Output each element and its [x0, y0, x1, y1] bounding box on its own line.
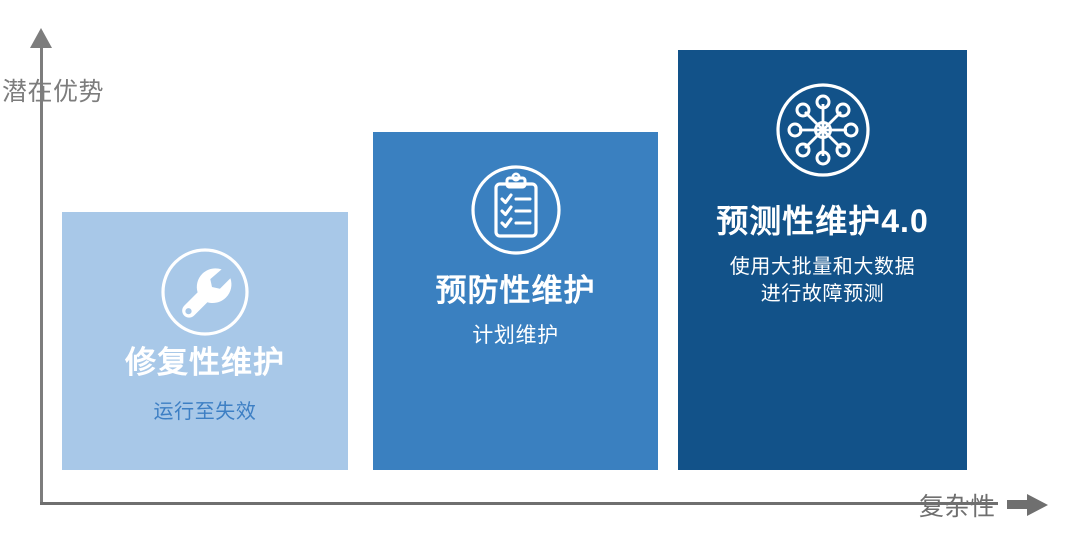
bar-corrective-maintenance: 修复性维护 运行至失效 [62, 212, 348, 470]
bar-corrective-text-block: 修复性维护 运行至失效 [62, 345, 348, 426]
bar-predictive-maintenance: 预测性维护4.0 使用大批量和大数据 进行故障预测 [678, 50, 967, 470]
arrow-right-shaft [1007, 500, 1029, 509]
bar-preventive-maintenance: 预防性维护 计划维护 [373, 132, 658, 470]
bar-predictive-subtitle: 使用大批量和大数据 进行故障预测 [678, 254, 967, 309]
x-axis-line [40, 502, 998, 505]
bar-predictive-subtitle-line-2: 进行故障预测 [678, 281, 967, 309]
wrench-icon [157, 244, 253, 345]
y-axis-label: 潜在优势 [2, 72, 104, 108]
bar-corrective-title: 修复性维护 [62, 345, 348, 382]
y-axis-line [40, 44, 43, 505]
x-axis-label: 复杂性 [919, 487, 996, 523]
network-hub-icon [771, 78, 875, 187]
bar-corrective-subtitle: 运行至失效 [62, 399, 348, 427]
bar-predictive-subtitle-line-1: 使用大批量和大数据 [678, 254, 967, 282]
bar-corrective-subtitle-line-1: 运行至失效 [62, 399, 348, 427]
bar-predictive-text-block: 预测性维护4.0 使用大批量和大数据 进行故障预测 [678, 203, 967, 309]
bar-preventive-subtitle-line-1: 计划维护 [373, 322, 658, 351]
clipboard-checklist-icon [466, 160, 566, 265]
bar-preventive-title: 预防性维护 [373, 273, 658, 310]
arrow-up-icon [30, 28, 52, 48]
bar-predictive-title: 预测性维护4.0 [678, 203, 967, 241]
arrow-right-icon [1007, 494, 1055, 516]
bar-preventive-text-block: 预防性维护 计划维护 [373, 273, 658, 351]
bar-preventive-subtitle: 计划维护 [373, 322, 658, 351]
arrow-right-head [1027, 494, 1048, 516]
maintenance-maturity-chart: 潜在优势 复杂性 修复性维护 运行至失效 [0, 0, 1080, 548]
